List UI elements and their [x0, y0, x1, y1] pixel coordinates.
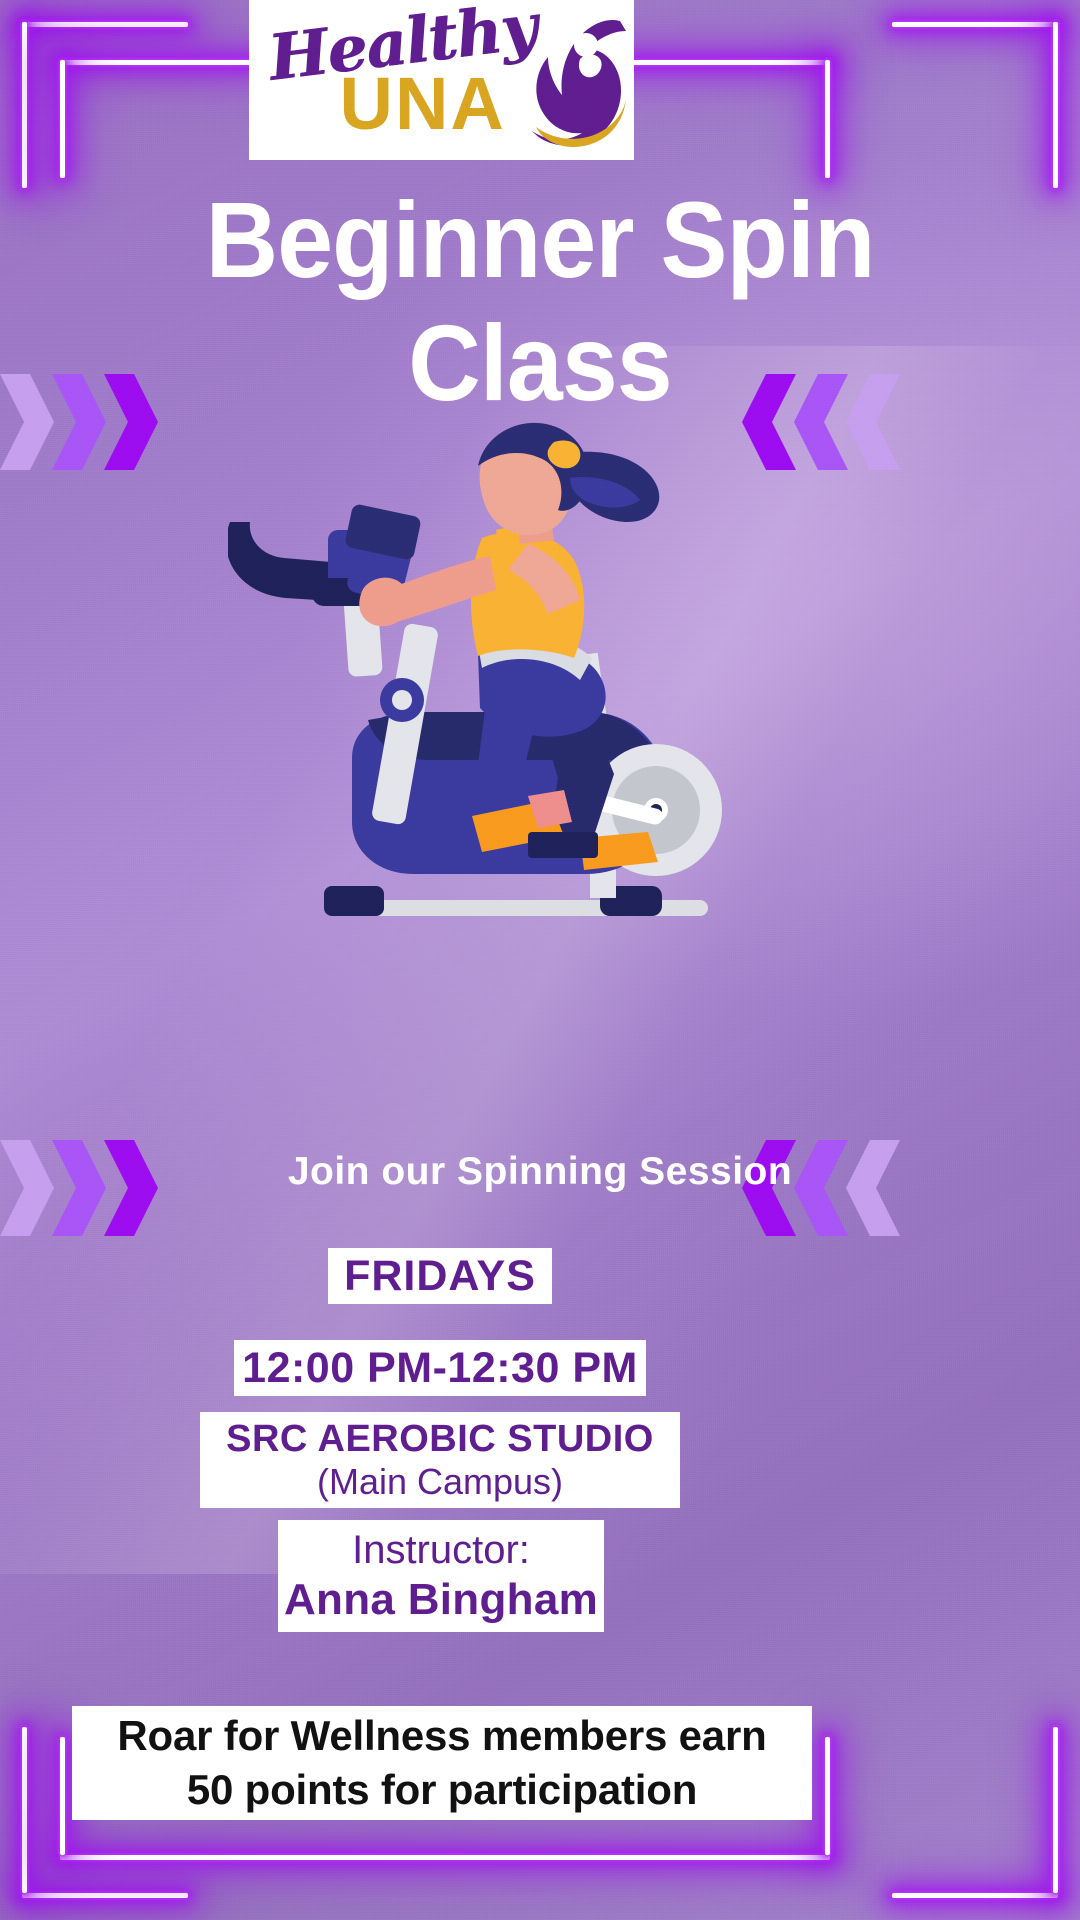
time-label: 12:00 PM-12:30 PM — [242, 1344, 638, 1393]
spin-class-poster: Healthy UNA Beginner Spin Class — [0, 0, 1080, 1920]
logo-acronym-text: UNA — [340, 67, 506, 141]
location-name: SRC AEROBIC STUDIO — [226, 1417, 654, 1461]
join-text: Join our Spinning Session — [0, 1150, 1080, 1194]
chevron-group-upper-left — [0, 374, 158, 470]
instructor-name: Anna Bingham — [284, 1574, 598, 1627]
points-line-1: Roar for Wellness members earn — [117, 1709, 766, 1763]
location-campus: (Main Campus) — [317, 1461, 563, 1503]
instructor-badge: Instructor: Anna Bingham — [278, 1520, 604, 1632]
location-badge: SRC AEROBIC STUDIO (Main Campus) — [200, 1412, 680, 1508]
points-line-2: 50 points for participation — [187, 1763, 697, 1817]
chevron-right-icon — [0, 374, 54, 470]
chevron-left-icon — [846, 374, 904, 470]
time-badge: 12:00 PM-12:30 PM — [234, 1340, 646, 1396]
instructor-label: Instructor: — [352, 1526, 530, 1574]
points-badge: Roar for Wellness members earn 50 points… — [72, 1706, 812, 1820]
chevron-right-icon — [100, 374, 158, 470]
healthy-una-logo: Healthy UNA — [249, 0, 634, 160]
title-line-1: Beginner Spin — [38, 178, 1042, 301]
chevron-right-icon — [48, 374, 106, 470]
woman-riding-spin-bike-illustration — [228, 418, 852, 938]
day-label: FRIDAYS — [344, 1252, 536, 1301]
wellness-figure-swoosh-icon — [502, 15, 630, 147]
day-badge: FRIDAYS — [328, 1248, 552, 1304]
